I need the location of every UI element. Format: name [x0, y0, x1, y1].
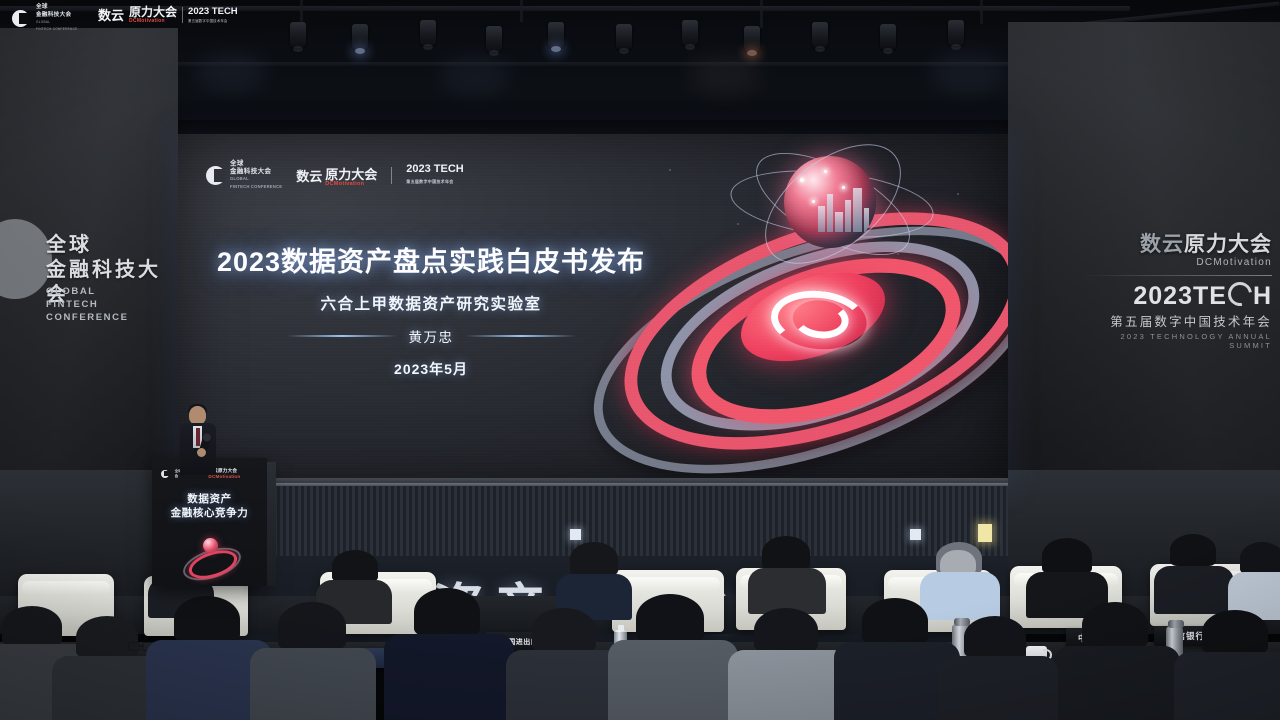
stage-light [616, 24, 632, 50]
audience-member [66, 616, 158, 720]
light-haze [440, 56, 510, 96]
audience-member [756, 536, 816, 602]
podium-artwork [182, 536, 238, 578]
stage-light [548, 22, 564, 48]
broadcast-tech-year: 2023 TECH [188, 7, 238, 17]
stage-light [486, 26, 502, 52]
podium-headline: 数据资产 金融核心竞争力 [152, 492, 267, 520]
swirl-icon [1223, 277, 1256, 310]
audience-member [1162, 534, 1224, 602]
screen-scanlines [178, 134, 1008, 486]
stage-light [420, 20, 436, 46]
audience-member [1184, 610, 1280, 720]
conference-stage-photo: 全球金融科技大会 GLOBALFINTECH CONFERENCE 数云原力大会… [0, 0, 1280, 720]
audience-member [400, 588, 496, 720]
fintech-logo-mark-icon [161, 470, 169, 478]
truss-drop [980, 0, 983, 24]
audience-member [1236, 542, 1280, 608]
right-sign-brand-en: DCMotivation [1082, 257, 1272, 268]
speaker [178, 406, 220, 474]
audience-member [160, 596, 256, 720]
right-sign-summit-en: 2023 TECHNOLOGY ANNUAL SUMMIT [1082, 332, 1272, 350]
audience-member [1036, 538, 1098, 606]
stage-light [812, 22, 828, 48]
broadcast-left-cn2: 金融科技大会 [36, 12, 78, 19]
right-wall-signage: 数云原力大会 DCMotivation 2023TEH 第五届数字中国技术年会 … [1082, 228, 1272, 350]
stage-light [948, 20, 964, 46]
broadcast-left-en2: FINTECH CONFERENCE [36, 26, 78, 33]
glass-sphere [203, 538, 218, 553]
stage-light [744, 26, 760, 52]
broadcast-left-cn1: 全球 [36, 4, 78, 11]
audience-member [564, 542, 624, 608]
audience-member [848, 598, 944, 720]
audience-member [262, 602, 362, 720]
light-haze [690, 56, 760, 94]
broadcast-dc-title: 原力大会 [129, 6, 177, 18]
speaker-hand [197, 448, 206, 457]
truss-drop [760, 0, 763, 28]
right-sign-summit-cn: 第五届数字中国技术年会 [1082, 311, 1272, 330]
light-haze [930, 52, 1006, 94]
fintech-logo-mark-icon [12, 10, 29, 27]
broadcast-dc-brand: 数云 [98, 5, 124, 24]
audience-member [624, 594, 720, 720]
broadcast-right-logo: 数云 原力大会 DCMotivation 2023 TECH 第五届数字中国技术… [98, 5, 238, 24]
right-sign-brand: 数云原力大会 [1082, 228, 1272, 258]
audience-member [1068, 602, 1164, 720]
broadcast-tech-sub: 第五届数字中国技术年会 [188, 18, 238, 23]
left-sign-en: GLOBALFINTECH CONFERENCE [46, 285, 170, 324]
podium: 全球金融科技大会 数云原力大会DCMotivation 数据资产 金融核心竞争力 [152, 458, 267, 586]
speaker-tie [196, 428, 200, 446]
right-sign-tech: 2023TEH [1082, 282, 1272, 309]
stage-light [290, 22, 306, 48]
audience-member [520, 608, 612, 720]
light-haze [196, 52, 266, 92]
main-led-screen: 全球 金融科技大会 GLOBAL FINTECH CONFERENCE 数云 原… [178, 134, 1008, 486]
divider [182, 7, 183, 23]
stage-light [682, 20, 698, 46]
podium-side-panel [267, 462, 276, 586]
stage-light [880, 24, 896, 50]
truss-drop [520, 0, 523, 22]
stage-light [352, 24, 368, 50]
audience-member [952, 616, 1044, 720]
audience-member [742, 608, 834, 720]
divider [1082, 275, 1272, 276]
broadcast-left-logo: 全球 金融科技大会 GLOBAL FINTECH CONFERENCE [12, 4, 78, 32]
